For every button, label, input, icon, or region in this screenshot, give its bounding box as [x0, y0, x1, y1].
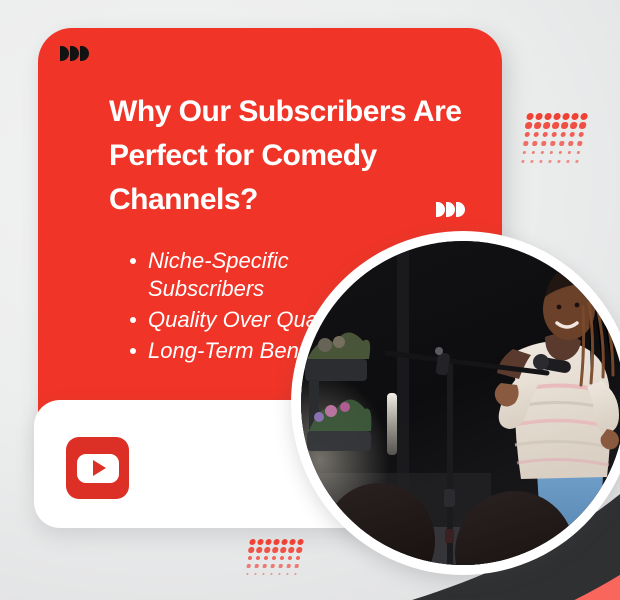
- halftone-dot: [568, 151, 572, 154]
- halftone-dot: [576, 160, 578, 162]
- halftone-dot: [559, 151, 563, 154]
- poster-canvas: Why Our Subscribers Are Perfect for Come…: [0, 0, 620, 600]
- chevron-slice: [456, 202, 465, 217]
- halftone-dot: [525, 122, 532, 128]
- halftone-dots-icon-bottom: [243, 538, 305, 578]
- youtube-screen-shape: [77, 454, 119, 483]
- halftone-dot: [535, 113, 543, 120]
- halftone-dot: [248, 556, 253, 560]
- play-triangle-icon: [93, 460, 106, 476]
- halftone-dot: [273, 539, 280, 545]
- halftone-dot: [288, 556, 293, 560]
- halftone-dot: [279, 564, 283, 567]
- halftone-dot: [289, 539, 296, 545]
- halftone-dot: [533, 132, 539, 137]
- halftone-dot: [550, 151, 554, 154]
- halftone-dot: [281, 539, 288, 545]
- halftone-dots-icon-right: [518, 112, 590, 166]
- chevron-slice: [70, 46, 79, 61]
- halftone-dot: [294, 573, 296, 575]
- chevron-slice: [60, 46, 69, 61]
- halftone-dot: [543, 122, 550, 128]
- halftone-dot: [264, 556, 269, 560]
- halftone-dot: [280, 556, 285, 560]
- halftone-dot: [296, 547, 302, 552]
- halftone-dot: [550, 141, 555, 145]
- halftone-dot: [249, 539, 256, 545]
- halftone-dot: [278, 573, 280, 575]
- halftone-dot: [553, 113, 561, 120]
- halftone-dot: [254, 573, 256, 575]
- halftone-dot: [255, 564, 259, 567]
- halftone-dot: [567, 160, 569, 162]
- halftone-dot: [256, 547, 262, 552]
- halftone-dot: [523, 151, 527, 154]
- halftone-dot: [264, 547, 270, 552]
- halftone-dot: [295, 564, 299, 567]
- halftone-dot: [570, 122, 577, 128]
- halftone-dot: [526, 113, 534, 120]
- halftone-dot: [280, 547, 286, 552]
- halftone-dot: [578, 132, 584, 137]
- halftone-dot: [541, 141, 546, 145]
- halftone-dot: [246, 573, 248, 575]
- halftone-dot: [296, 556, 301, 560]
- halftone-dot: [248, 547, 254, 552]
- halftone-dot: [522, 160, 524, 162]
- halftone-dot: [532, 151, 536, 154]
- halftone-dot: [257, 539, 264, 545]
- triple-chevron-icon-dark: [60, 46, 89, 61]
- halftone-dot: [542, 132, 548, 137]
- halftone-dot: [568, 141, 573, 145]
- halftone-dot: [552, 122, 559, 128]
- halftone-dot: [558, 160, 560, 162]
- halftone-dot: [562, 113, 570, 120]
- halftone-dot: [287, 564, 291, 567]
- halftone-dot: [551, 132, 557, 137]
- halftone-dot: [256, 556, 261, 560]
- halftone-dot: [271, 564, 275, 567]
- triple-chevron-icon-light: [436, 202, 465, 217]
- halftone-dot: [579, 122, 586, 128]
- halftone-dot: [263, 564, 267, 567]
- halftone-dot: [559, 141, 564, 145]
- halftone-dot: [534, 122, 541, 128]
- halftone-dot: [577, 141, 582, 145]
- halftone-dot: [270, 573, 272, 575]
- halftone-dot: [532, 141, 537, 145]
- halftone-dot: [288, 547, 294, 552]
- halftone-dot: [580, 113, 588, 120]
- photo-ring: [291, 231, 620, 575]
- halftone-dot: [561, 122, 568, 128]
- halftone-dot: [262, 573, 264, 575]
- halftone-dot: [286, 573, 288, 575]
- youtube-logo-icon: [66, 437, 129, 499]
- halftone-dot: [549, 160, 551, 162]
- halftone-dot: [523, 141, 528, 145]
- halftone-dot: [272, 547, 278, 552]
- chevron-slice: [436, 202, 445, 217]
- halftone-dot: [247, 564, 251, 567]
- chevron-slice: [80, 46, 89, 61]
- halftone-dot: [297, 539, 304, 545]
- halftone-dot: [571, 113, 579, 120]
- halftone-dot: [544, 113, 552, 120]
- chevron-slice: [446, 202, 455, 217]
- halftone-dot: [531, 160, 533, 162]
- halftone-dot: [560, 132, 566, 137]
- halftone-dot: [524, 132, 530, 137]
- halftone-dot: [569, 132, 575, 137]
- halftone-dot: [577, 151, 581, 154]
- stand-up-comedy-photo: [301, 241, 620, 565]
- halftone-dot: [272, 556, 277, 560]
- halftone-dot: [540, 160, 542, 162]
- halftone-dot: [265, 539, 272, 545]
- halftone-dot: [541, 151, 545, 154]
